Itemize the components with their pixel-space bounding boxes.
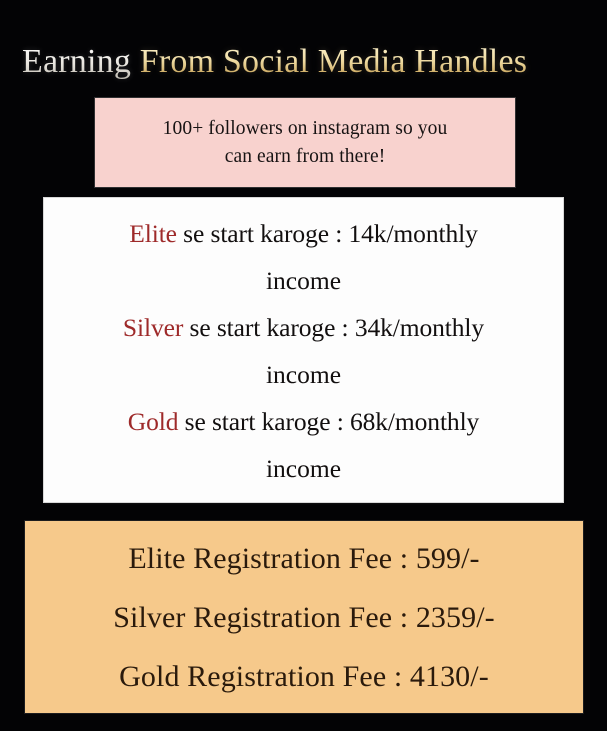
tier-middle-elite: se start karoge :	[177, 219, 349, 248]
tier-middle-silver: se start karoge :	[183, 313, 355, 342]
followers-banner-line-2: can earn from there!	[225, 143, 386, 171]
title-space	[131, 43, 140, 80]
earnings-panel: Elite se start karoge : 14k/monthly inco…	[44, 198, 563, 502]
fee-label-gold: Gold Registration Fee :	[119, 660, 410, 693]
page-title: Earning From Social Media Handles	[22, 40, 592, 84]
tier-amount-silver: 34k/monthly	[355, 313, 484, 342]
fee-row-elite: Elite Registration Fee : 599/-	[128, 529, 479, 588]
tier-amount-elite: 14k/monthly	[349, 219, 478, 248]
tier-name-gold: Gold	[128, 407, 179, 436]
fee-row-silver: Silver Registration Fee : 2359/-	[113, 588, 495, 647]
earnings-row-silver: Silver se start karoge : 34k/monthly	[123, 304, 484, 351]
earnings-row-elite-continuation: income	[266, 257, 341, 304]
fee-price-elite: 599/-	[416, 542, 480, 575]
earnings-row-gold: Gold se start karoge : 68k/monthly	[128, 398, 479, 445]
title-white-part: Earning	[22, 43, 131, 80]
tier-middle-gold: se start karoge :	[178, 407, 350, 436]
earnings-row-elite: Elite se start karoge : 14k/monthly	[129, 210, 478, 257]
tier-name-elite: Elite	[129, 219, 177, 248]
title-gold-part: From Social Media Handles	[140, 43, 527, 80]
fee-row-gold: Gold Registration Fee : 4130/-	[119, 647, 489, 706]
fee-label-silver: Silver Registration Fee :	[113, 601, 416, 634]
registration-fee-panel: Elite Registration Fee : 599/- Silver Re…	[25, 521, 583, 713]
tier-name-silver: Silver	[123, 313, 183, 342]
fee-label-elite: Elite Registration Fee :	[128, 542, 415, 575]
promo-poster: Earning From Social Media Handles 100+ f…	[0, 0, 607, 731]
followers-banner-line-1: 100+ followers on instagram so you	[163, 115, 448, 143]
earnings-row-silver-continuation: income	[266, 351, 341, 398]
earnings-row-gold-continuation: income	[266, 445, 341, 492]
fee-price-gold: 4130/-	[410, 660, 489, 693]
followers-banner: 100+ followers on instagram so you can e…	[95, 98, 515, 187]
fee-price-silver: 2359/-	[416, 601, 495, 634]
tier-amount-gold: 68k/monthly	[350, 407, 479, 436]
